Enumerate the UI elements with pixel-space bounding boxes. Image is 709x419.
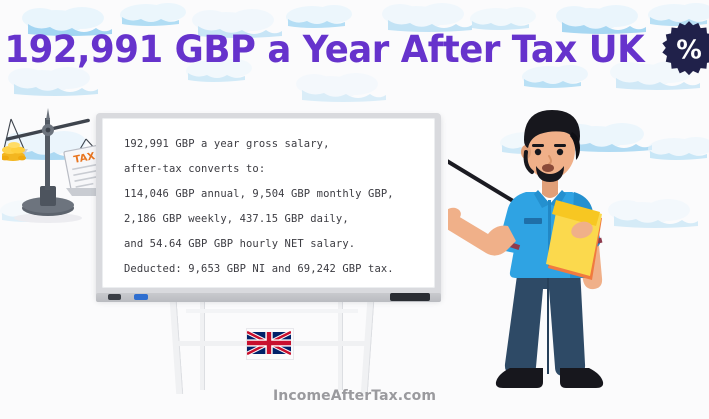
yellow-folder: [546, 200, 602, 280]
poster-canvas: 192,991 GBP a Year After Tax UK %: [0, 0, 709, 419]
percent-badge-icon: %: [660, 20, 709, 78]
stand-leg-inner-left: [200, 302, 205, 390]
page-title-row: 192,991 GBP a Year After Tax UK %: [0, 18, 709, 80]
board-line-5: and 54.64 GBP GBP hourly NET salary.: [124, 231, 424, 257]
board-line-2: after-tax converts to:: [124, 156, 424, 182]
percent-symbol: %: [676, 35, 702, 65]
site-footer: IncomeAfterTax.com: [0, 388, 709, 404]
board-line-1: 192,991 GBP a year gross salary,: [124, 131, 424, 157]
board-line-3: 114,046 GBP annual, 9,504 GBP monthly GB…: [124, 181, 424, 207]
page-title: 192,991 GBP a Year After Tax UK: [5, 28, 645, 71]
stand-leg-right: [361, 302, 374, 394]
board-line-6: Deducted: 9,653 GBP NI and 69,242 GBP ta…: [124, 256, 424, 282]
uk-flag: [246, 328, 294, 360]
eraser: [390, 293, 430, 301]
whiteboard-surface: 192,991 GBP a year gross salary, after-t…: [102, 118, 435, 288]
marker-dark: [108, 294, 121, 300]
stand-leg-inner-right: [338, 302, 343, 390]
board-line-4: 2,186 GBP weekly, 437.15 GBP daily,: [124, 206, 424, 232]
stand-leg-left: [170, 302, 183, 394]
whiteboard-text: 192,991 GBP a year gross salary, after-t…: [124, 132, 424, 282]
whiteboard: 192,991 GBP a year gross salary, after-t…: [96, 113, 441, 305]
marker-blue: [134, 294, 148, 300]
pointer-stick: [448, 154, 518, 204]
stand-crossbar-top: [186, 309, 358, 313]
percent-badge: %: [660, 20, 709, 78]
teacher-figure: [448, 96, 648, 396]
